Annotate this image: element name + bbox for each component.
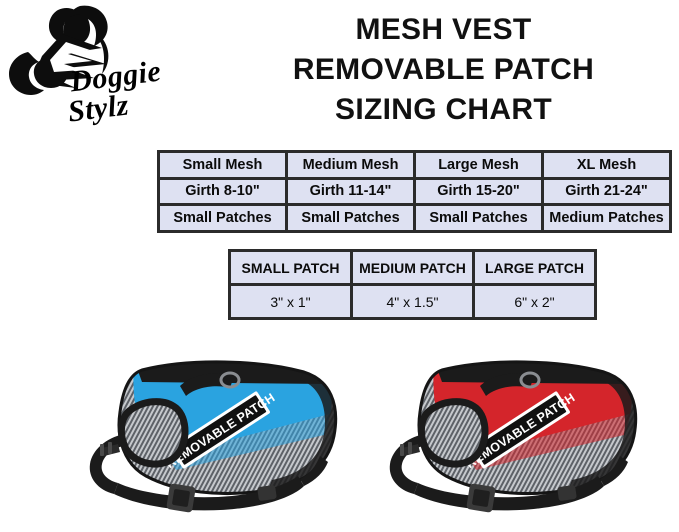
table-cell: MEDIUM PATCH: [353, 252, 472, 283]
table-cell: Small Patches: [160, 206, 285, 230]
table-cell: Large Mesh: [416, 153, 541, 177]
table-cell: Girth 15-20": [416, 180, 541, 204]
red-mesh-vest-harness: REMOVABLE PATCH: [372, 352, 662, 532]
table-cell: XL Mesh: [544, 153, 669, 177]
table-cell: Girth 21-24": [544, 180, 669, 204]
title-line-3: SIZING CHART: [216, 90, 671, 130]
table-cell: Medium Patches: [544, 206, 669, 230]
blue-mesh-vest-harness: REMOVABLE PATCH: [72, 352, 362, 532]
product-images: REMOVABLE PATCH: [0, 352, 679, 532]
table-cell: Girth 8-10": [160, 180, 285, 204]
brand-logo: Doggie Stylz: [6, 4, 196, 134]
title-line-1: MESH VEST: [216, 10, 671, 50]
table-cell: Girth 11-14": [288, 180, 413, 204]
table-cell: Small Patches: [288, 206, 413, 230]
table-cell: Small Mesh: [160, 153, 285, 177]
brand-name-line2: Stylz: [66, 88, 131, 129]
page-title: MESH VEST REMOVABLE PATCH SIZING CHART: [216, 10, 671, 130]
table-cell: Small Patches: [416, 206, 541, 230]
table-cell: 3" x 1": [231, 286, 350, 317]
header: Doggie Stylz MESH VEST REMOVABLE PATCH S…: [0, 0, 679, 140]
table-cell: Medium Mesh: [288, 153, 413, 177]
table-cell: 4" x 1.5": [353, 286, 472, 317]
mesh-sizing-table: Small Mesh Medium Mesh Large Mesh XL Mes…: [157, 150, 672, 233]
table-cell: SMALL PATCH: [231, 252, 350, 283]
patch-sizing-table: SMALL PATCH MEDIUM PATCH LARGE PATCH 3" …: [228, 249, 597, 320]
title-line-2: REMOVABLE PATCH: [216, 50, 671, 90]
table-cell: LARGE PATCH: [475, 252, 594, 283]
table-cell: 6" x 2": [475, 286, 594, 317]
